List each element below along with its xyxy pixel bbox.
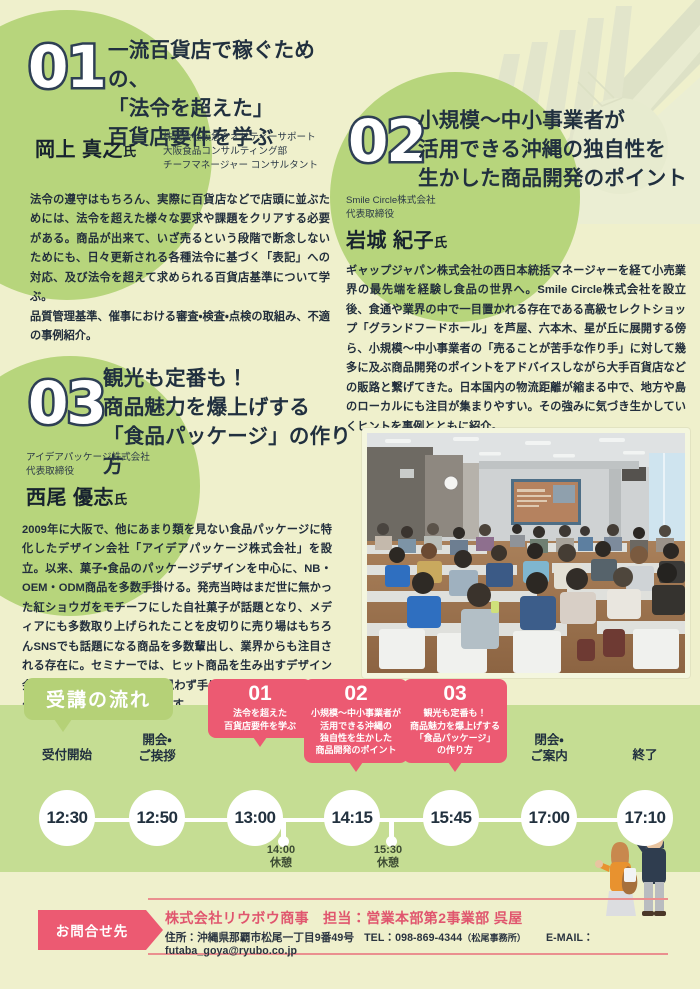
seminar-photo	[362, 428, 690, 678]
contact-company: 株式会社リウボウ商事	[165, 910, 309, 926]
speaker-affiliation-01: 株式会社阪急クオリティーサポート 大阪食品コンサルティング部 チーフマネージャー…	[163, 131, 343, 173]
contact-tel-note: （松尾事務所）	[462, 933, 526, 943]
contact-badge: お問合せ先	[38, 910, 146, 950]
session-number-02: 02	[348, 112, 425, 170]
contact-address: 住所：沖縄県那覇市松尾一丁目9番49号	[165, 932, 354, 944]
flow-title: 受講の流れ	[24, 678, 173, 720]
speaker-name-text-01: 岡上 真之	[35, 139, 123, 161]
flyer-page: 01 一流百貨店で稼ぐための、 「法令を超えた」 百貨店要件を学ぶ 岡上 真之氏…	[0, 0, 700, 989]
flow-node-3: 13:00	[227, 790, 283, 846]
flow-tag-number-03: 03	[408, 682, 502, 705]
speaker-name-text-02: 岩城 紀子	[346, 230, 434, 252]
contact-person: 担当：営業本部第2事業部 呉屋	[323, 910, 523, 926]
flow-node-5: 15:45	[423, 790, 479, 846]
contact-tel: TEL：098-869-4344	[364, 932, 462, 944]
flow-tag-text-01: 法令を超えた 百貨店要件を学ぶ	[213, 707, 307, 732]
flow-node-2: 12:50	[129, 790, 185, 846]
speaker-suffix-03: 氏	[114, 492, 128, 507]
flow-node-7: 17:10	[617, 790, 673, 846]
break-label-1: 14:00 休憩	[241, 844, 321, 870]
session-number-01: 01	[28, 38, 105, 96]
footer-rule-top	[148, 898, 668, 900]
flow-node-1: 12:30	[39, 790, 95, 846]
break-text-1: 休憩	[241, 857, 321, 870]
session-description-02: ギャップジャパン株式会社の西日本統括マネージャーを経て小売業界の最先端を経験し食…	[346, 262, 686, 437]
flow-tag-text-03: 観光も定番も！ 商品魅力を爆上げする 「食品パッケージ」 の作り方	[408, 707, 502, 757]
speaker-affiliation-02: Smile Circle株式会社 代表取締役	[346, 194, 546, 222]
speaker-name-03: 西尾 優志氏	[26, 481, 128, 510]
flow-tag-01: 01 法令を超えた 百貨店要件を学ぶ	[208, 679, 312, 738]
speaker-name-02: 岩城 紀子氏	[346, 224, 448, 253]
flow-tag-03: 03 観光も定番も！ 商品魅力を爆上げする 「食品パッケージ」 の作り方	[403, 679, 507, 763]
speaker-suffix-02: 氏	[434, 235, 448, 250]
flow-node-label-2: 開会・ ご挨拶	[114, 733, 200, 764]
speaker-suffix-01: 氏	[123, 144, 137, 159]
flow-tag-text-02: 小規模～中小事業者が 活用できる沖縄の 独自性を生かした 商品開発のポイント	[309, 707, 403, 757]
seminar-photo-image	[367, 433, 685, 673]
break-time-1: 14:00	[241, 844, 321, 857]
flow-tag-number-01: 01	[213, 682, 307, 705]
flow-node-4: 14:15	[324, 790, 380, 846]
session-number-03: 03	[28, 374, 105, 432]
flow-node-6: 17:00	[521, 790, 577, 846]
flow-node-label-7: 終了	[602, 748, 688, 764]
speaker-name-01: 岡上 真之氏	[35, 133, 137, 162]
contact-company-line: 株式会社リウボウ商事担当：営業本部第2事業部 呉屋	[165, 908, 523, 928]
session-title-02: 小規模～中小事業者が 活用できる沖縄の独自性を 生かした商品開発のポイント	[418, 106, 698, 193]
speaker-affiliation-03: アイデアパッケージ株式会社 代表取締役	[26, 451, 226, 479]
break-label-2: 15:30 休憩	[348, 844, 428, 870]
break-text-2: 休憩	[348, 857, 428, 870]
flow-node-label-1: 受付開始	[19, 748, 115, 764]
contact-detail-line: 住所：沖縄県那覇市松尾一丁目9番49号TEL：098-869-4344（松尾事務…	[165, 930, 700, 957]
session-description-01: 法令の遵守はもちろん、実際に百貨店などで店頭に並ぶためには、法令を超えた様々な要…	[30, 191, 330, 347]
flow-tag-number-02: 02	[309, 682, 403, 705]
flow-node-label-6: 閉会・ ご案内	[506, 733, 592, 764]
speaker-name-text-03: 西尾 優志	[26, 487, 114, 509]
break-time-2: 15:30	[348, 844, 428, 857]
flow-tag-02: 02 小規模～中小事業者が 活用できる沖縄の 独自性を生かした 商品開発のポイン…	[304, 679, 408, 763]
